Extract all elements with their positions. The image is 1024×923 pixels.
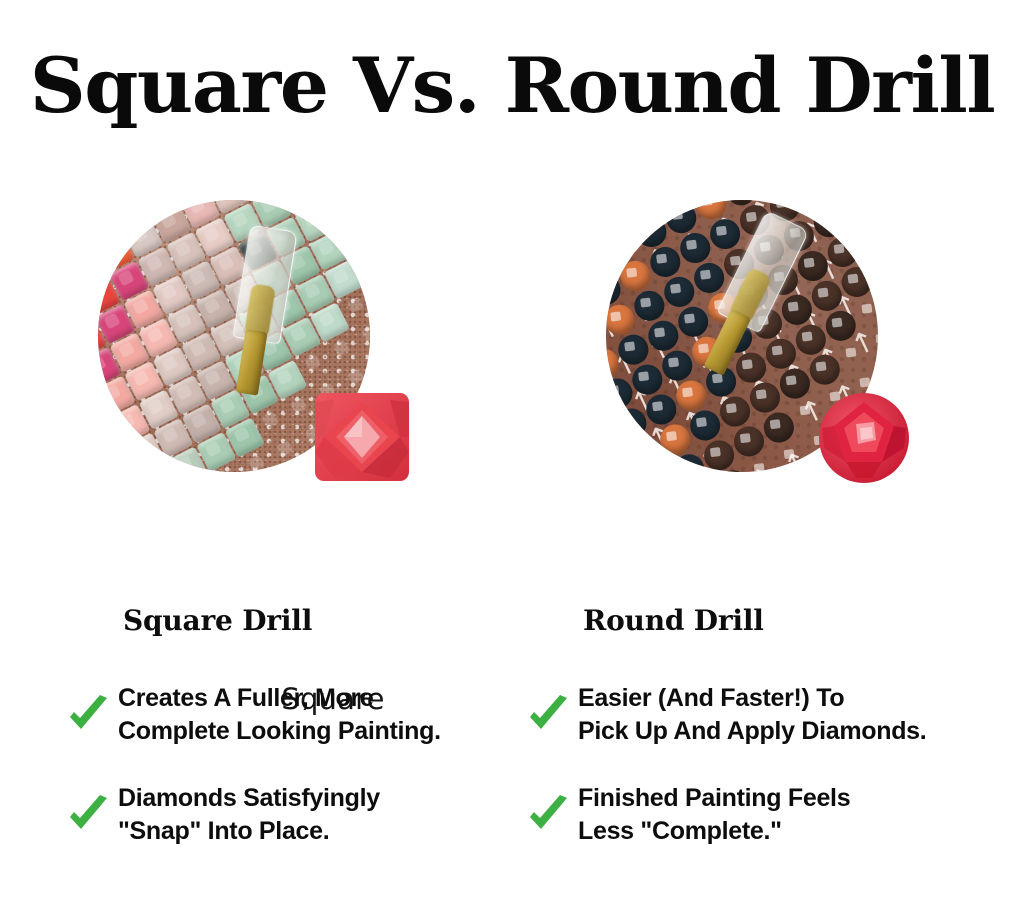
round-gem-icon [816,392,912,484]
list-item-label: Finished Painting Feels Less "Complete." [578,782,850,848]
round-drill-bullet-list: Easier (And Faster!) To Pick Up And Appl… [524,682,994,882]
list-item-label: Diamonds Satisfyingly "Snap" Into Place. [118,782,380,848]
round-drill-panel: ↑↑↑↑↑↑↑↑↑↑↑↑↑↑↑↑↑↑↑↑↑↑↑↑↑↑↑↑↑↑↑↑↑↑↑↑↑↑↑↑… [606,196,916,526]
list-item: Diamonds Satisfyingly "Snap" Into Place. [64,782,534,848]
benefits-row: Square Drill Creates A Fuller, More Comp… [0,604,1024,904]
round-drill-heading: Round Drill [583,604,994,638]
check-icon [64,691,112,739]
square-drill-bullet-list: Creates A Fuller, More Complete Looking … [64,682,534,882]
photo-comparison-row: Square ↑↑↑↑↑↑↑↑↑↑↑↑↑↑↑↑↑↑↑↑↑↑↑↑↑↑↑↑↑↑↑↑↑… [0,196,1024,526]
page-title: Square Vs. Round Drill [0,48,1024,124]
square-drill-panel: Square [98,196,408,526]
list-item-label: Creates A Fuller, More Complete Looking … [118,682,441,748]
list-item: Finished Painting Feels Less "Complete." [524,782,994,848]
square-drill-column: Square Drill Creates A Fuller, More Comp… [64,604,534,638]
round-drill-column: Round Drill Easier (And Faster!) To Pick… [524,604,994,638]
check-icon [64,791,112,839]
list-item: Creates A Fuller, More Complete Looking … [64,682,534,748]
check-icon [524,791,572,839]
square-drill-heading: Square Drill [123,604,534,638]
list-item: Easier (And Faster!) To Pick Up And Appl… [524,682,994,748]
square-gem-icon [314,392,410,482]
check-icon [524,691,572,739]
list-item-label: Easier (And Faster!) To Pick Up And Appl… [578,682,926,748]
